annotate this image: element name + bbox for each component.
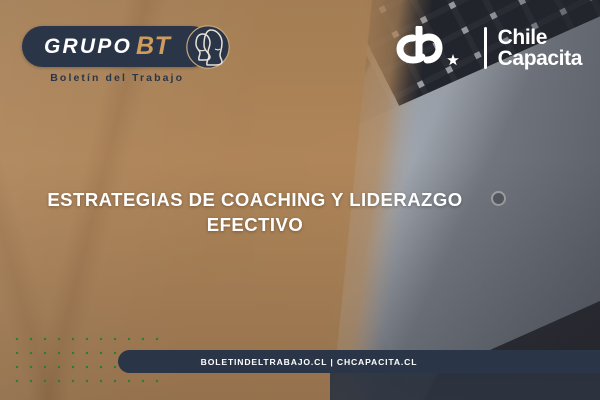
grupo-bt-pill: GRUPO BT [22, 26, 212, 67]
page-title-line-2: EFECTIVO [40, 213, 470, 238]
two-faces-profile-icon [185, 24, 231, 70]
chile-capacita-logo: Chile Capacita [389, 26, 582, 70]
chile-capacita-wordmark: Chile Capacita [498, 27, 582, 70]
footer-background-fill [330, 373, 600, 400]
footer-urls: BOLETINDELTRABAJO.CL | CHCAPACITA.CL [118, 357, 500, 367]
page-title-line-1: ESTRATEGIAS DE COACHING Y LIDERAZGO [40, 188, 470, 213]
grupo-bt-logo: GRUPO BT Boletín del Trabajo [22, 26, 212, 84]
vertical-divider-icon [484, 27, 487, 69]
chile-word: Chile [498, 27, 582, 48]
capacita-word: Capacita [498, 48, 582, 69]
newsletter-banner: GRUPO BT Boletín del Trabajo [0, 0, 600, 400]
grupo-bt-initials: BT [136, 32, 170, 61]
grupo-bt-word: GRUPO [44, 35, 132, 59]
page-title: ESTRATEGIAS DE COACHING Y LIDERAZGO EFEC… [40, 188, 470, 237]
footer-bar: BOLETINDELTRABAJO.CL | CHCAPACITA.CL [118, 350, 600, 373]
grupo-bt-tagline: Boletín del Trabajo [50, 72, 184, 84]
chc-star-icon [389, 26, 473, 70]
